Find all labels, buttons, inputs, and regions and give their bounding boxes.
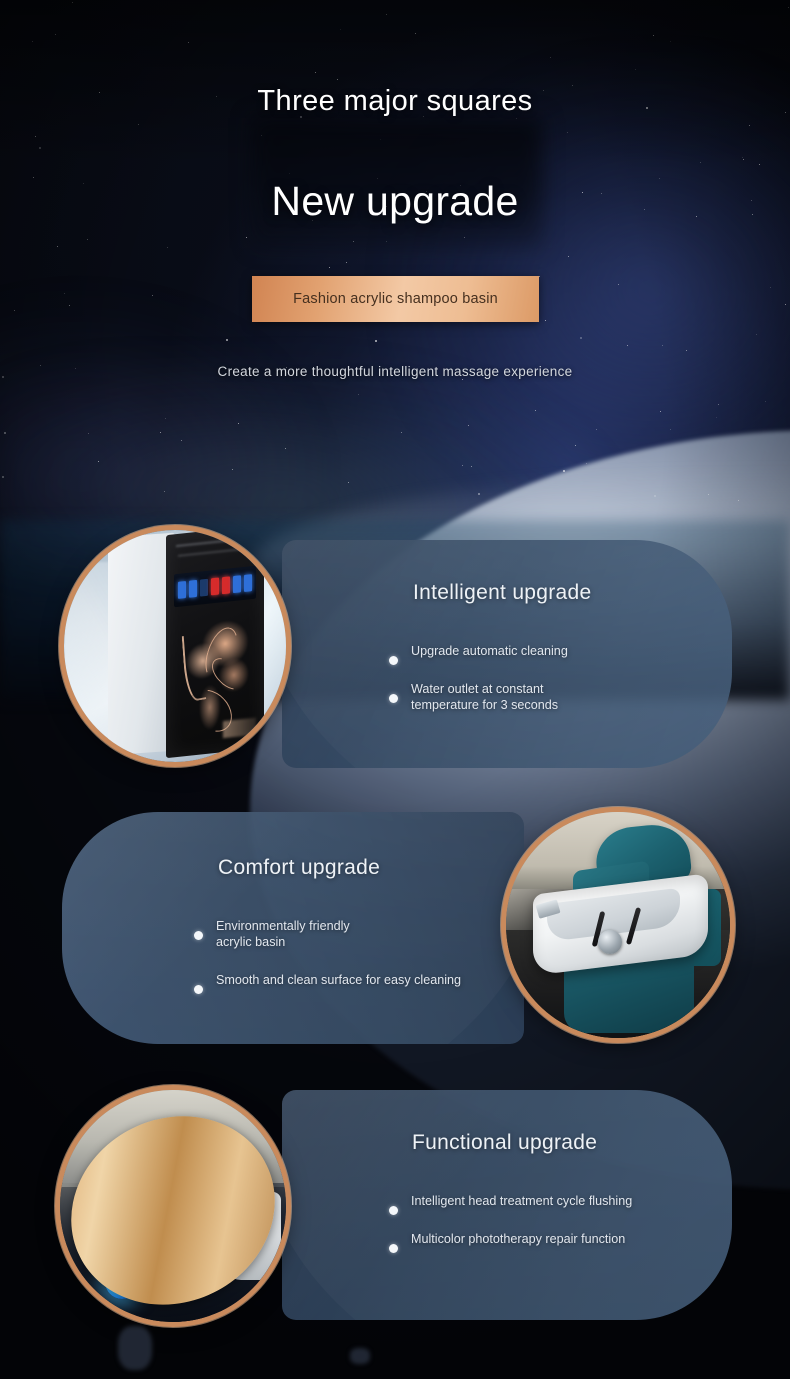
hero-badge: Fashion acrylic shampoo basin [252,276,539,322]
bullet-dot-icon [194,985,203,994]
bullet-text: Multicolor phototherapy repair function [411,1231,689,1247]
bullet-dot-icon [389,1206,398,1215]
bullet-dot-icon [389,694,398,703]
list-item: Water outlet at constant temperature for… [389,681,689,713]
hero-badge-label: Fashion acrylic shampoo basin [293,291,498,307]
list-item: Multicolor phototherapy repair function [389,1231,689,1247]
bullet-dot-icon [389,1244,398,1253]
bullet-dot-icon [389,656,398,665]
hero-subtitle: Create a more thoughtful intelligent mas… [0,364,790,379]
photo-spray-head-blue-led [60,1090,286,1322]
card-title-functional-upgrade: Functional upgrade [412,1131,597,1155]
list-item: Upgrade automatic cleaning [389,643,689,659]
card-title-intelligent-upgrade: Intelligent upgrade [413,581,592,605]
bullet-text: Upgrade automatic cleaning [411,643,689,659]
bullet-text: Water outlet at constant temperature for… [411,681,561,713]
card-bullets-comfort-upgrade: Environmentally friendly acrylic basin S… [194,918,484,988]
bullet-text: Intelligent head treatment cycle flushin… [411,1193,689,1209]
card-bullets-functional-upgrade: Intelligent head treatment cycle flushin… [389,1193,689,1247]
bullet-text: Smooth and clean surface for easy cleani… [216,972,484,988]
page-title: New upgrade [0,178,790,225]
bullet-dot-icon [194,931,203,940]
list-item: Intelligent head treatment cycle flushin… [389,1193,689,1209]
list-item: Smooth and clean surface for easy cleani… [194,972,484,988]
card-title-comfort-upgrade: Comfort upgrade [218,856,380,880]
hero-kicker: Three major squares [0,85,790,118]
photo-water-heater-control-unit [64,530,286,762]
list-item: Environmentally friendly acrylic basin [194,918,484,950]
photo-acrylic-shampoo-basin [506,812,730,1038]
card-bullets-intelligent-upgrade: Upgrade automatic cleaning Water outlet … [389,643,689,713]
background-speck [350,1348,370,1364]
bullet-text: Environmentally friendly acrylic basin [216,918,378,950]
background-speck [118,1326,152,1370]
